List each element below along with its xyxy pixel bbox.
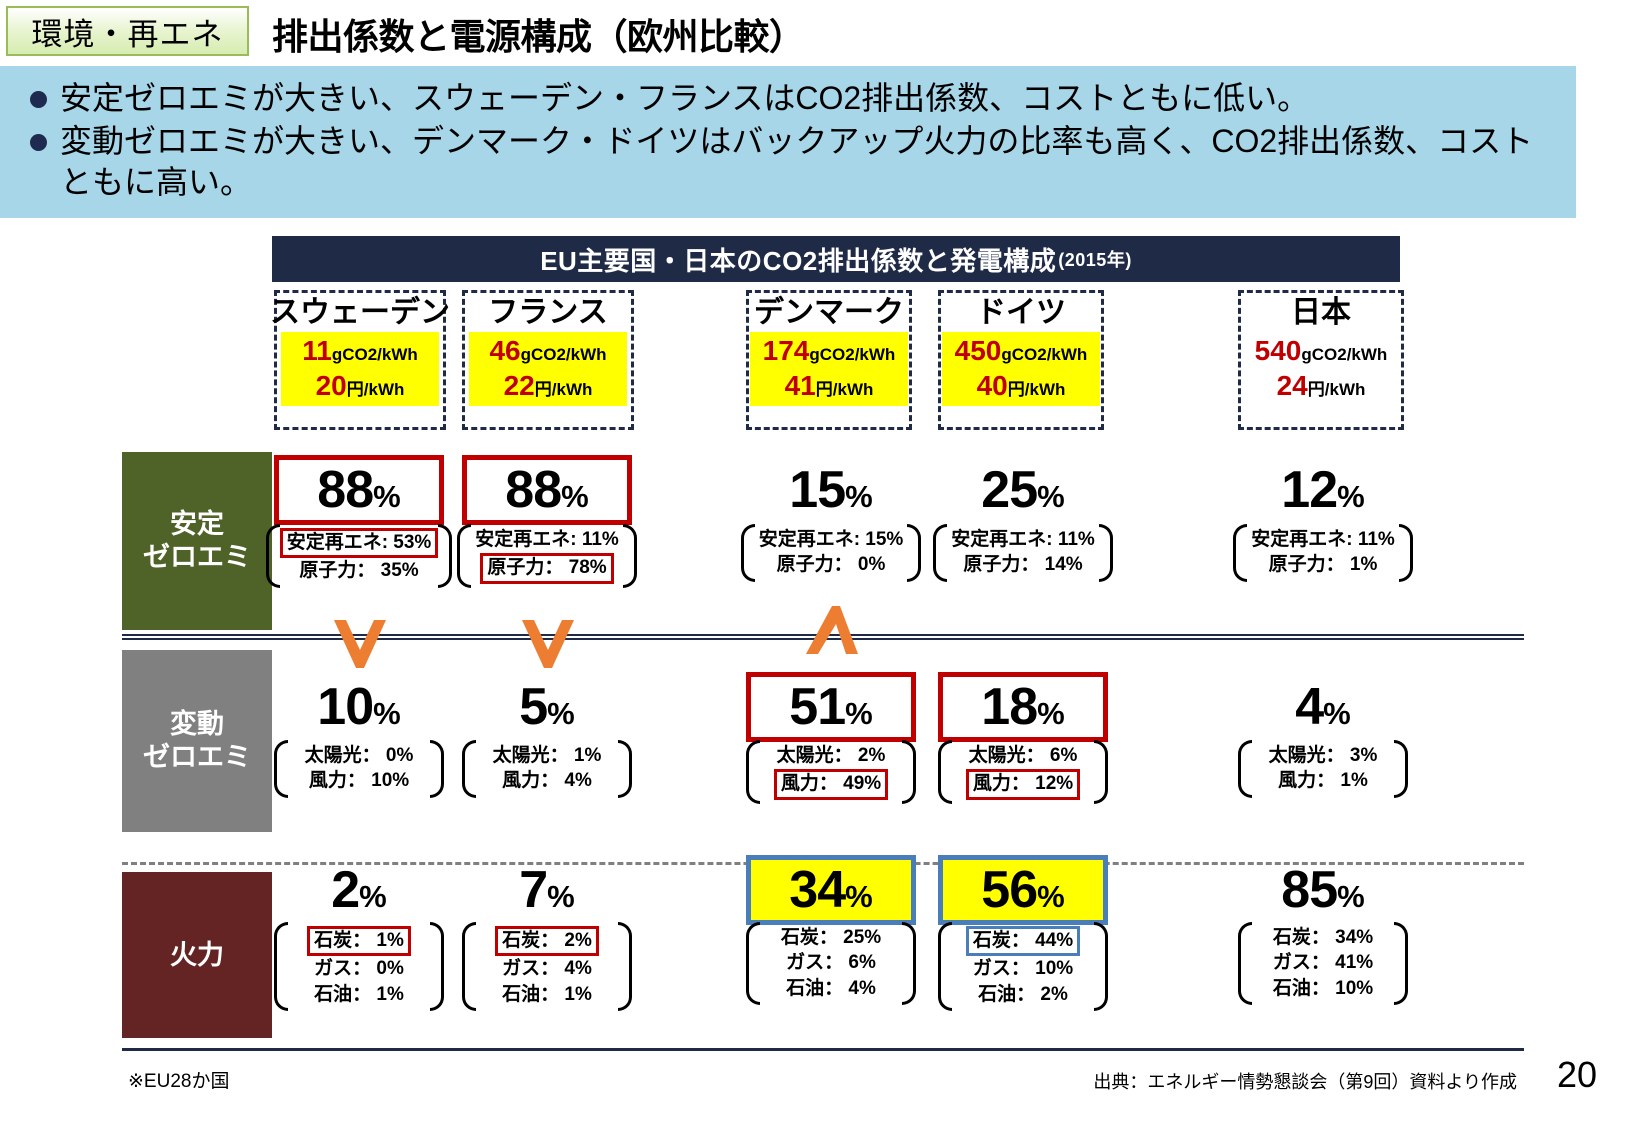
- breakdown-item: 風力： 4%: [498, 769, 596, 793]
- breakdown-item: 原子力： 1%: [1265, 553, 1382, 577]
- country-metrics: 11gCO2/kWh20円/kWh: [281, 332, 439, 406]
- breakdown-item: 原子力： 35%: [295, 559, 422, 583]
- bracket-left-icon: [1238, 740, 1252, 798]
- country-header-card: ドイツ450gCO2/kWh40円/kWh: [938, 290, 1104, 430]
- country-name: スウェーデン: [270, 297, 450, 329]
- breakdown-item: 安定再エネ: 11%: [471, 528, 623, 552]
- bracket-right-icon: [1094, 740, 1108, 804]
- bracket-right-icon: [1399, 524, 1413, 582]
- summary-panel: 安定ゼロエミが大きい、スウェーデン・フランスはCO2排出係数、コストともに低い。…: [0, 66, 1576, 218]
- breakdown-item: 石油： 2%: [974, 983, 1072, 1007]
- bracket-right-icon: [1394, 740, 1408, 798]
- breakdown-lines: 石炭： 25%ガス： 6%石油： 4%: [760, 922, 902, 1005]
- bracket-right-icon: [430, 922, 444, 1011]
- breakdown-item: 風力： 12%: [966, 769, 1080, 799]
- chevron-down-icon: [332, 618, 388, 670]
- page-number: 20: [1557, 1054, 1597, 1096]
- breakdown-item: 安定再エネ: 11%: [947, 528, 1099, 552]
- share-value-stable: 88%: [462, 455, 632, 525]
- bracket-left-icon: [1238, 922, 1252, 1005]
- share-value-thermal: 34%: [746, 855, 916, 925]
- co2-intensity: 11gCO2/kWh: [302, 335, 418, 367]
- breakdown-item: 石油： 1%: [310, 983, 408, 1007]
- country-name: ドイツ: [976, 297, 1066, 329]
- breakdown-lines: 石炭： 44%ガス： 10%石油： 2%: [952, 922, 1094, 1011]
- country-name: 日本: [1291, 297, 1351, 329]
- breakdown-thermal: 石炭： 25%ガス： 6%石油： 4%: [746, 922, 916, 1005]
- breakdown-item: 安定再エネ: 15%: [755, 528, 908, 552]
- bracket-right-icon: [618, 740, 632, 798]
- breakdown-item: 石油： 1%: [498, 983, 596, 1007]
- breakdown-stable: 安定再エネ: 53%原子力： 35%: [274, 524, 444, 588]
- country-metrics: 450gCO2/kWh40円/kWh: [942, 332, 1100, 406]
- bracket-right-icon: [902, 922, 916, 1005]
- breakdown-item: 石炭： 2%: [495, 926, 599, 956]
- breakdown-item: 太陽光： 3%: [1265, 744, 1382, 768]
- share-value-variable: 18%: [938, 672, 1108, 742]
- breakdown-variable: 太陽光： 1%風力： 4%: [462, 740, 632, 798]
- slide-root: 環境・再エネ 排出係数と電源構成（欧州比較） 安定ゼロエミが大きい、スウェーデン…: [0, 0, 1625, 1125]
- power-cost: 22円/kWh: [504, 370, 593, 402]
- co2-intensity: 540gCO2/kWh: [1255, 335, 1388, 367]
- share-value-stable: 12%: [1238, 455, 1408, 525]
- bullet-item: 変動ゼロエミが大きい、デンマーク・ドイツはバックアップ火力の比率も高く、CO2排…: [30, 121, 1556, 203]
- bracket-right-icon: [438, 524, 452, 588]
- chart-title: EU主要国・日本のCO2排出係数と発電構成: [540, 241, 1056, 278]
- breakdown-stable: 安定再エネ: 11%原子力： 1%: [1238, 524, 1408, 582]
- bracket-left-icon: [462, 740, 476, 798]
- bracket-right-icon: [618, 922, 632, 1011]
- breakdown-item: 原子力： 0%: [773, 553, 890, 577]
- bullet-item: 安定ゼロエミが大きい、スウェーデン・フランスはCO2排出係数、コストともに低い。: [30, 78, 1556, 119]
- breakdown-item: 石炭： 44%: [966, 926, 1080, 956]
- share-value-stable: 25%: [938, 455, 1108, 525]
- breakdown-item: 石炭： 34%: [1269, 926, 1377, 950]
- bracket-left-icon: [457, 524, 471, 588]
- row-label-thermal: 火力: [122, 872, 272, 1038]
- bracket-right-icon: [1094, 922, 1108, 1011]
- footer-divider: [122, 1048, 1524, 1051]
- breakdown-item: 太陽光： 6%: [965, 744, 1082, 768]
- breakdown-variable: 太陽光： 6%風力： 12%: [938, 740, 1108, 804]
- country-header-card: デンマーク174gCO2/kWh41円/kWh: [746, 290, 912, 430]
- breakdown-lines: 安定再エネ: 11%原子力： 14%: [947, 524, 1099, 582]
- share-value-thermal: 56%: [938, 855, 1108, 925]
- breakdown-item: ガス： 10%: [969, 957, 1077, 981]
- breakdown-stable: 安定再エネ: 15%原子力： 0%: [746, 524, 916, 582]
- share-value-thermal: 7%: [462, 855, 632, 925]
- breakdown-item: 太陽光： 1%: [489, 744, 606, 768]
- breakdown-item: 太陽光： 0%: [301, 744, 418, 768]
- source-note: 出典：エネルギー情勢懇談会（第9回）資料より作成: [1093, 1068, 1517, 1094]
- breakdown-item: 石炭： 1%: [307, 926, 411, 956]
- breakdown-variable: 太陽光： 2%風力： 49%: [746, 740, 916, 804]
- bracket-left-icon: [938, 922, 952, 1011]
- breakdown-item: 石油： 10%: [1269, 977, 1377, 1001]
- country-header-card: フランス46gCO2/kWh22円/kWh: [462, 290, 634, 430]
- chart-title-year: (2015年): [1058, 246, 1132, 272]
- page-title: 排出係数と電源構成（欧州比較）: [272, 8, 805, 60]
- chart-title-bar: EU主要国・日本のCO2排出係数と発電構成(2015年): [272, 236, 1400, 282]
- breakdown-item: 風力： 49%: [774, 769, 888, 799]
- bracket-right-icon: [907, 524, 921, 582]
- bracket-left-icon: [274, 740, 288, 798]
- country-metrics: 46gCO2/kWh22円/kWh: [469, 332, 627, 406]
- breakdown-lines: 石炭： 1%ガス： 0%石油： 1%: [288, 922, 430, 1011]
- breakdown-lines: 安定再エネ: 11%原子力： 1%: [1247, 524, 1399, 582]
- breakdown-lines: 石炭： 34%ガス： 41%石油： 10%: [1252, 922, 1394, 1005]
- bracket-left-icon: [938, 740, 952, 804]
- bracket-right-icon: [623, 524, 637, 588]
- breakdown-item: 太陽光： 2%: [773, 744, 890, 768]
- bracket-right-icon: [1394, 922, 1408, 1005]
- bracket-left-icon: [933, 524, 947, 582]
- power-cost: 20円/kWh: [316, 370, 405, 402]
- breakdown-item: 原子力： 14%: [959, 553, 1086, 577]
- breakdown-item: 石炭： 25%: [777, 926, 885, 950]
- row-label-stable: 安定ゼロエミ: [122, 452, 272, 630]
- breakdown-item: ガス： 6%: [782, 951, 880, 975]
- breakdown-variable: 太陽光： 0%風力： 10%: [274, 740, 444, 798]
- breakdown-item: 石油： 4%: [782, 977, 880, 1001]
- breakdown-variable: 太陽光： 3%風力： 1%: [1238, 740, 1408, 798]
- row-label-variable: 変動ゼロエミ: [122, 650, 272, 832]
- power-cost: 41円/kWh: [785, 370, 874, 402]
- breakdown-lines: 安定再エネ: 15%原子力： 0%: [755, 524, 908, 582]
- breakdown-lines: 安定再エネ: 53%原子力： 35%: [280, 524, 439, 588]
- breakdown-stable: 安定再エネ: 11%原子力： 14%: [938, 524, 1108, 582]
- breakdown-lines: 太陽光： 6%風力： 12%: [952, 740, 1094, 804]
- bracket-right-icon: [902, 740, 916, 804]
- bullet-dot-icon: [30, 91, 47, 108]
- breakdown-lines: 安定再エネ: 11%原子力： 78%: [471, 524, 623, 588]
- country-name: フランス: [488, 297, 607, 329]
- share-value-stable: 15%: [746, 455, 916, 525]
- breakdown-stable: 安定再エネ: 11%原子力： 78%: [462, 524, 632, 588]
- co2-intensity: 174gCO2/kWh: [763, 335, 896, 367]
- bullet-dot-icon: [30, 134, 47, 151]
- breakdown-item: 風力： 10%: [305, 769, 413, 793]
- breakdown-item: 安定再エネ: 53%: [280, 528, 439, 558]
- share-value-thermal: 2%: [274, 855, 444, 925]
- country-header-card: 日本540gCO2/kWh24円/kWh: [1238, 290, 1404, 430]
- breakdown-item: ガス： 0%: [310, 957, 408, 981]
- breakdown-lines: 太陽光： 0%風力： 10%: [288, 740, 430, 798]
- breakdown-lines: 太陽光： 1%風力： 4%: [476, 740, 618, 798]
- bullet-text: 安定ゼロエミが大きい、スウェーデン・フランスはCO2排出係数、コストともに低い。: [60, 78, 1309, 119]
- share-value-variable: 10%: [274, 672, 444, 742]
- share-value-stable: 88%: [274, 455, 444, 525]
- breakdown-thermal: 石炭： 2%ガス： 4%石油： 1%: [462, 922, 632, 1011]
- bracket-right-icon: [430, 740, 444, 798]
- power-cost: 40円/kWh: [977, 370, 1066, 402]
- footnote: ※EU28か国: [128, 1066, 229, 1093]
- bracket-left-icon: [1233, 524, 1247, 582]
- bracket-left-icon: [274, 922, 288, 1011]
- bracket-left-icon: [266, 524, 280, 588]
- bracket-left-icon: [746, 740, 760, 804]
- breakdown-thermal: 石炭： 44%ガス： 10%石油： 2%: [938, 922, 1108, 1011]
- share-value-thermal: 85%: [1238, 855, 1408, 925]
- country-metrics: 540gCO2/kWh24円/kWh: [1242, 332, 1400, 406]
- country-name: デンマーク: [754, 297, 904, 329]
- breakdown-item: 風力： 1%: [1274, 769, 1372, 793]
- bracket-left-icon: [462, 922, 476, 1011]
- share-value-variable: 51%: [746, 672, 916, 742]
- category-tag: 環境・再エネ: [6, 6, 249, 56]
- breakdown-thermal: 石炭： 34%ガス： 41%石油： 10%: [1238, 922, 1408, 1005]
- bullet-text: 変動ゼロエミが大きい、デンマーク・ドイツはバックアップ火力の比率も高く、CO2排…: [60, 121, 1556, 203]
- share-value-variable: 4%: [1238, 672, 1408, 742]
- co2-intensity: 450gCO2/kWh: [955, 335, 1088, 367]
- country-header-card: スウェーデン11gCO2/kWh20円/kWh: [274, 290, 446, 430]
- breakdown-item: 安定再エネ: 11%: [1247, 528, 1399, 552]
- chevron-down-icon: [520, 618, 576, 670]
- breakdown-item: ガス： 41%: [1269, 951, 1377, 975]
- chevron-up-icon: [804, 604, 860, 656]
- breakdown-item: 原子力： 78%: [480, 553, 613, 583]
- breakdown-lines: 石炭： 2%ガス： 4%石油： 1%: [476, 922, 618, 1011]
- bracket-left-icon: [741, 524, 755, 582]
- breakdown-thermal: 石炭： 1%ガス： 0%石油： 1%: [274, 922, 444, 1011]
- breakdown-lines: 太陽光： 3%風力： 1%: [1252, 740, 1394, 798]
- power-cost: 24円/kWh: [1277, 370, 1366, 402]
- share-value-variable: 5%: [462, 672, 632, 742]
- bracket-left-icon: [746, 922, 760, 1005]
- breakdown-item: ガス： 4%: [498, 957, 596, 981]
- breakdown-lines: 太陽光： 2%風力： 49%: [760, 740, 902, 804]
- co2-intensity: 46gCO2/kWh: [489, 335, 606, 367]
- country-metrics: 174gCO2/kWh41円/kWh: [750, 332, 908, 406]
- bracket-right-icon: [1099, 524, 1113, 582]
